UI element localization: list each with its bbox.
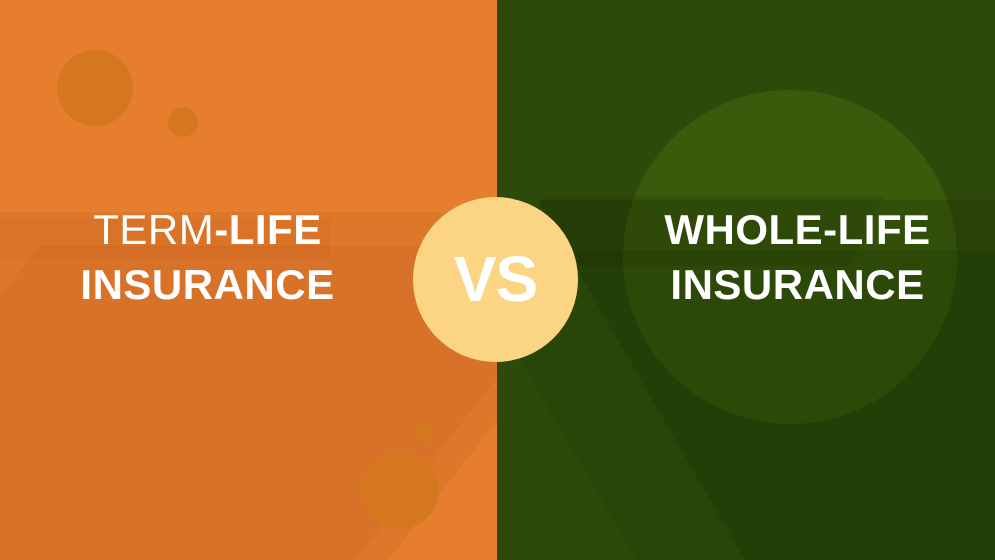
whole-life-headline-line-1: WHOLE-LIFE — [600, 207, 995, 253]
term-life-word-life: -LIFE — [214, 206, 321, 253]
versus-label: VS — [454, 247, 537, 311]
circle-bottom-large-icon — [361, 451, 439, 529]
circle-top-large-icon — [57, 50, 133, 126]
circle-bottom-small-icon — [413, 422, 435, 444]
whole-life-headline-line-2: INSURANCE — [600, 262, 995, 308]
whole-life-headline: WHOLE-LIFE INSURANCE — [600, 207, 995, 308]
circle-top-small-icon — [168, 107, 198, 137]
comparison-graphic: TERM-LIFE INSURANCE WHOLE-LIFE INSURANCE… — [0, 0, 995, 560]
term-life-headline-line-2: INSURANCE — [0, 262, 415, 308]
term-life-word-term: TERM — [93, 206, 214, 253]
versus-badge: VS — [413, 197, 578, 362]
term-life-headline-line-1: TERM-LIFE — [0, 207, 415, 253]
term-life-headline: TERM-LIFE INSURANCE — [0, 207, 415, 308]
